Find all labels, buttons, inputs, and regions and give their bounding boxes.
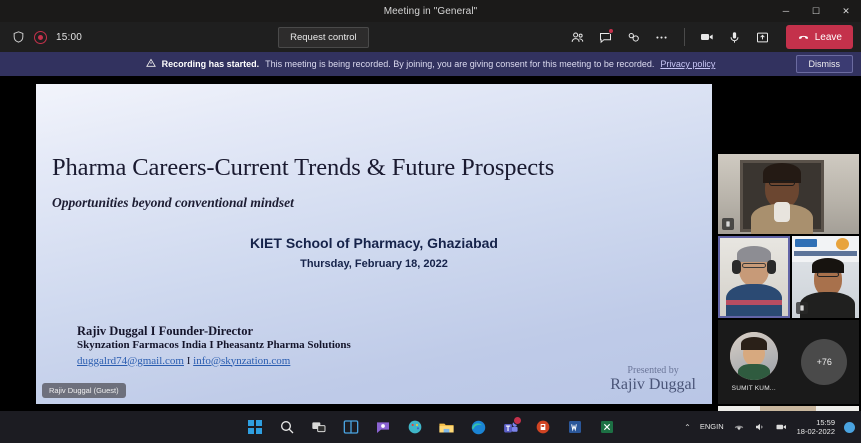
raise-hand-icon[interactable] [621, 24, 647, 50]
maximize-button[interactable]: ☐ [801, 0, 831, 22]
meeting-stage: Pharma Careers-Current Trends & Future P… [0, 76, 861, 411]
slide-date: Thursday, February 18, 2022 [36, 258, 712, 270]
shared-presentation-slide[interactable]: Pharma Careers-Current Trends & Future P… [36, 84, 712, 404]
participant-video-1 [718, 154, 859, 234]
warning-triangle-icon [146, 58, 156, 70]
start-icon[interactable] [245, 417, 265, 437]
wifi-icon[interactable] [733, 421, 745, 433]
volume-icon[interactable] [754, 421, 766, 433]
recording-banner-strong: Recording has started. [162, 59, 260, 69]
participant-tile-2-active-speaker[interactable] [718, 236, 790, 318]
excel-icon[interactable] [597, 417, 617, 437]
presenter-company: Skynzation Farmacos India I Pheasantz Ph… [77, 339, 351, 353]
paint-icon[interactable] [405, 417, 425, 437]
leave-label: Leave [815, 32, 842, 43]
teams-icon[interactable] [501, 417, 521, 437]
participant-overflow-badge[interactable]: +76 [801, 339, 847, 385]
participant-avatar-group: SUMIT KUM... +76 [718, 320, 859, 404]
presenter-name-tag: Rajiv Duggal (Guest) [42, 383, 126, 398]
participant-video-2 [720, 238, 788, 316]
teams-meeting-window: Meeting in "General" ─ ☐ ✕ 15:00 Request… [0, 0, 861, 443]
recording-banner-text: This meeting is being recorded. By joini… [265, 59, 654, 69]
window-controls: ─ ☐ ✕ [771, 0, 861, 22]
camera-icon[interactable] [694, 24, 720, 50]
presenter-name: Rajiv Duggal I Founder-Director [77, 324, 351, 339]
file-explorer-icon[interactable] [437, 417, 457, 437]
edge-icon[interactable] [469, 417, 489, 437]
microphone-icon[interactable] [722, 24, 748, 50]
participant-3-status-icon [796, 302, 808, 314]
email-separator: I [184, 355, 193, 367]
dismiss-button[interactable]: Dismiss [796, 55, 854, 73]
camera-tray-icon[interactable] [775, 421, 788, 433]
toolbar-left-group: 15:00 [0, 30, 82, 44]
leave-button[interactable]: Leave [786, 25, 853, 49]
presented-by-block: Presented by Rajiv Duggal [610, 365, 696, 394]
shield-icon [12, 30, 25, 44]
slide-subtitle: Opportunities beyond conventional mindse… [52, 195, 294, 211]
window-title: Meeting in "General" [384, 6, 478, 17]
chat-unread-badge [608, 28, 614, 34]
presenter-emails: duggalrd74@gmail.com I info@skynzation.c… [77, 354, 351, 368]
participant-tile-1[interactable] [718, 154, 859, 234]
email-secondary-link[interactable]: info@skynzation.com [193, 355, 290, 367]
window-title-bar: Meeting in "General" ─ ☐ ✕ [0, 0, 861, 22]
presented-by-label: Presented by [610, 365, 696, 376]
avatar-row: SUMIT KUM... +76 [718, 320, 859, 404]
minimize-button[interactable]: ─ [771, 0, 801, 22]
people-icon[interactable] [565, 24, 591, 50]
chat-icon[interactable] [373, 417, 393, 437]
participant-1-status-icon [722, 218, 734, 230]
participant-rail: SUMIT KUM... +76 [716, 152, 861, 443]
privacy-policy-link[interactable]: Privacy policy [660, 59, 715, 69]
toolbar-divider [684, 28, 685, 46]
request-control-button[interactable]: Request control [278, 27, 369, 48]
powerpoint-icon[interactable] [533, 417, 553, 437]
chevron-up-icon[interactable]: ⌃ [684, 423, 691, 432]
task-view-icon[interactable] [309, 417, 329, 437]
language-bottom: IN [716, 423, 724, 431]
slide-title: Pharma Careers-Current Trends & Future P… [52, 154, 692, 182]
presenter-details: Rajiv Duggal I Founder-Director Skynzati… [77, 324, 351, 368]
participant-tile-3[interactable] [792, 236, 859, 318]
language-top: ENG [700, 423, 716, 431]
search-icon[interactable] [277, 417, 297, 437]
clock[interactable]: 15:59 18-02-2022 [797, 418, 835, 436]
slide-organization: KIET School of Pharmacy, Ghaziabad [36, 235, 712, 251]
more-options-icon[interactable] [649, 24, 675, 50]
language-indicator[interactable]: ENG IN [700, 423, 724, 431]
clock-time: 15:59 [797, 418, 835, 427]
share-tray-icon[interactable] [750, 24, 776, 50]
system-tray: ⌃ ENG IN [684, 418, 855, 436]
recording-banner: Recording has started. This meeting is b… [0, 52, 861, 76]
toolbar-center-group: Request control [82, 27, 565, 48]
email-primary-link[interactable]: duggalrd74@gmail.com [77, 355, 184, 367]
widgets-icon[interactable] [341, 417, 361, 437]
notification-icon[interactable] [844, 422, 855, 433]
chat-icon[interactable] [593, 24, 619, 50]
meeting-timer: 15:00 [56, 32, 82, 43]
avatar [730, 332, 778, 380]
meeting-toolbar: 15:00 Request control [0, 22, 861, 52]
close-button[interactable]: ✕ [831, 0, 861, 22]
toolbar-right-group: Leave [565, 24, 861, 50]
avatar-label: SUMIT KUM... [732, 385, 776, 392]
windows-taskbar: ⌃ ENG IN [0, 411, 861, 443]
presented-by-name: Rajiv Duggal [610, 376, 696, 394]
word-icon[interactable] [565, 417, 585, 437]
recording-banner-content: Recording has started. This meeting is b… [146, 58, 716, 70]
recording-indicator-icon [34, 31, 47, 44]
clock-date: 18-02-2022 [797, 427, 835, 436]
participant-avatar-sumit[interactable]: SUMIT KUM... [730, 332, 778, 392]
